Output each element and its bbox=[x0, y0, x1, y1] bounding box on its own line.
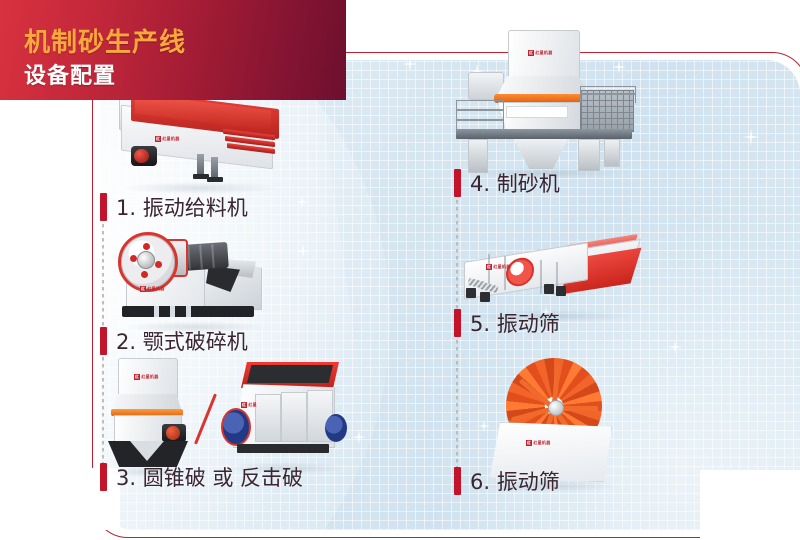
equipment-label-6: 6. 振动筛 bbox=[470, 466, 560, 496]
bullet-marker bbox=[454, 169, 461, 197]
banner-subtitle: 设备配置 bbox=[24, 58, 116, 90]
bullet-marker bbox=[100, 327, 107, 355]
bullet-marker bbox=[454, 467, 461, 495]
brand-logo: 红红星机器 bbox=[528, 50, 553, 56]
top-right-white-strip bbox=[740, 0, 800, 24]
brand-logo: 红红星 bbox=[241, 402, 257, 408]
equipment-row-5[interactable]: 5. 振动筛 bbox=[454, 308, 560, 338]
equipment-label-1: 1. 振动给料机 bbox=[116, 192, 248, 222]
header-banner: 机制砂生产线 设备配置 bbox=[0, 0, 346, 100]
equipment-label-4: 4. 制砂机 bbox=[470, 168, 560, 198]
machine-jaw-crusher: 红红星机器 bbox=[110, 222, 280, 327]
brand-logo: 红红星机器 bbox=[134, 374, 159, 380]
equipment-row-3[interactable]: 3. 圆锥破 或 反击破 bbox=[100, 462, 303, 492]
bullet-marker bbox=[100, 463, 107, 491]
bullet-marker bbox=[100, 193, 107, 221]
machine-impact-crusher: 红红星 bbox=[215, 358, 355, 468]
brand-logo: 红红星机器 bbox=[526, 440, 551, 446]
poster-root: 红红星机器 1. 振动给料机 红红星机器 bbox=[0, 0, 800, 530]
bullet-marker bbox=[454, 309, 461, 337]
brand-logo: 红红星机器 bbox=[155, 136, 180, 142]
equipment-label-3: 3. 圆锥破 或 反击破 bbox=[116, 462, 303, 492]
machine-vibrating-screen: 红红星机器 bbox=[458, 232, 648, 316]
brand-logo: 红红星机器 bbox=[486, 264, 511, 270]
machine-sand-maker: 红红星机器 bbox=[452, 28, 642, 173]
equipment-row-4[interactable]: 4. 制砂机 bbox=[454, 168, 560, 198]
brand-logo: 红红星机器 bbox=[140, 286, 165, 292]
machine-cone-crusher: 红红星机器 bbox=[100, 352, 200, 472]
machine-vibrating-feeder: 红红星机器 bbox=[105, 88, 295, 188]
banner-title: 机制砂生产线 bbox=[24, 22, 186, 59]
equipment-row-1[interactable]: 1. 振动给料机 bbox=[100, 192, 248, 222]
equipment-row-6[interactable]: 6. 振动筛 bbox=[454, 466, 560, 496]
equipment-label-5: 5. 振动筛 bbox=[470, 308, 560, 338]
